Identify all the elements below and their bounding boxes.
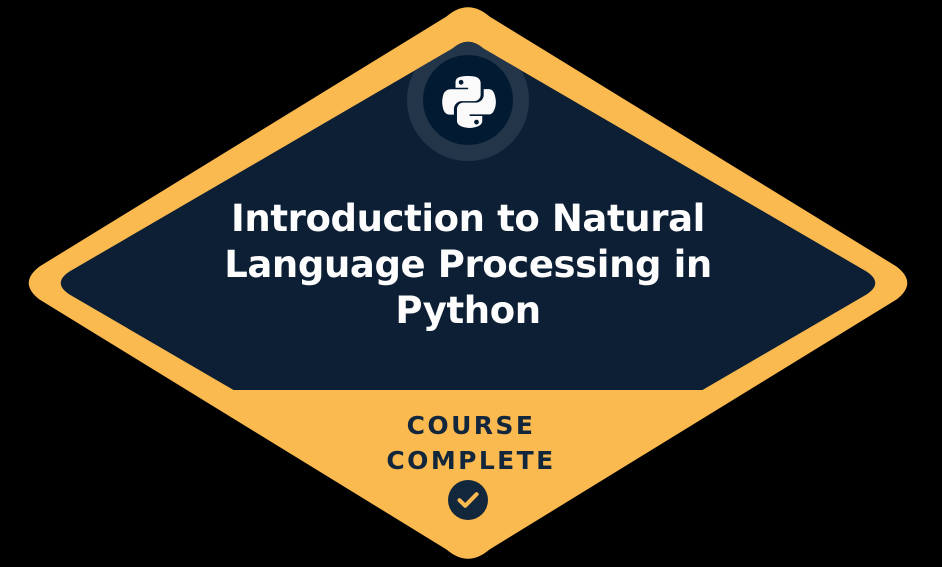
course-title: Introduction to Natural Language Process… <box>171 196 765 334</box>
check-circle-icon <box>448 480 488 520</box>
status-badge-label: COURSE COMPLETE <box>221 408 721 478</box>
python-logo-icon <box>398 30 538 170</box>
course-completion-badge: Introduction to Natural Language Process… <box>0 0 942 567</box>
